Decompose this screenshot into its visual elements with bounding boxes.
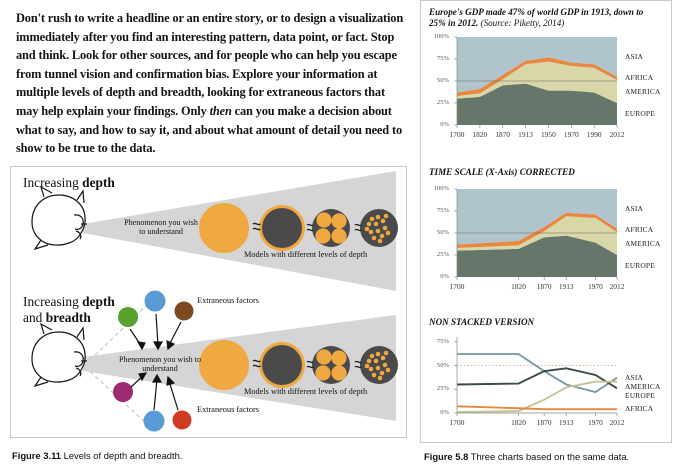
series-label-europe: EUROPE — [625, 109, 655, 118]
y-tick-label: 25% — [423, 99, 449, 106]
model-circle-level-3 — [312, 346, 350, 384]
extraneous-dot-magenta — [113, 382, 133, 402]
model-circle-level-1 — [199, 203, 249, 253]
chart-1-title-source: (Source: Piketty, 2014) — [481, 18, 565, 28]
chart-2-title-text: TIME SCALE (X-Axis) CORRECTED — [429, 167, 575, 177]
x-tick-label: 2012 — [600, 130, 634, 139]
phenomenon-label-top: Phenomenon you wish to understand — [121, 218, 201, 237]
extraneous-dot-lightblue-bottom — [144, 411, 165, 432]
right-column: Europe's GDP made 47% of world GDP in 19… — [420, 0, 680, 471]
chart-block-3: NON STACKED VERSION 0%25%50%75%170018201… — [421, 313, 671, 441]
y-tick-label: 0% — [423, 409, 449, 416]
figure-5-8-caption-label: Figure 5.8 — [424, 451, 468, 462]
y-tick-label: 50% — [423, 362, 449, 369]
extraneous-factors-label-top: Extraneous factors — [197, 296, 259, 305]
y-tick-label: 0% — [423, 121, 449, 128]
series-label-america: AMERICA — [625, 382, 660, 391]
y-tick-label: 50% — [423, 77, 449, 84]
figure-3-11-caption-text: Levels of depth and breadth. — [64, 450, 183, 461]
models-label-bottom: Models with different levels of depth — [244, 387, 404, 396]
extraneous-dot-red — [173, 411, 192, 430]
paragraph-text-part1: Don't rush to write a headline or an ent… — [16, 11, 403, 118]
y-tick-label: 75% — [423, 55, 449, 62]
models-label-top: Models with different levels of depth — [244, 250, 404, 259]
line-europe — [457, 368, 617, 388]
chart-1-title: Europe's GDP made 47% of world GDP in 19… — [429, 7, 661, 29]
extraneous-factors-label-bottom: Extraneous factors — [197, 405, 259, 414]
series-label-africa: AFRICA — [625, 404, 653, 413]
model-circle-level-4 — [360, 209, 398, 247]
y-tick-label: 100% — [423, 185, 449, 192]
series-label-africa: AFRICA — [625, 225, 653, 234]
x-tick-label: 1700 — [440, 282, 474, 291]
y-tick-label: 50% — [423, 229, 449, 236]
x-tick-label: 2012 — [600, 282, 634, 291]
head-silhouette-icon — [32, 324, 87, 386]
series-label-america: AMERICA — [625, 239, 660, 248]
chart-block-2: TIME SCALE (X-Axis) CORRECTED 0%25%50%75… — [421, 163, 671, 313]
left-column: Don't rush to write a headline or an ent… — [0, 0, 416, 471]
model-circle-level-4 — [360, 346, 398, 384]
line-africa — [457, 406, 617, 409]
line-asia — [457, 354, 617, 392]
y-tick-label: 75% — [423, 338, 449, 345]
series-label-asia: ASIA — [625, 373, 643, 382]
y-tick-label: 0% — [423, 273, 449, 280]
extraneous-dot-lightblue-top — [145, 291, 166, 312]
series-label-asia: ASIA — [625, 204, 643, 213]
y-tick-label: 100% — [423, 33, 449, 40]
panel-top-graphic — [11, 167, 407, 295]
extraneous-dot-brown — [175, 302, 194, 321]
body-paragraph: Don't rush to write a headline or an ent… — [16, 9, 406, 158]
y-tick-label: 75% — [423, 207, 449, 214]
y-tick-label: 25% — [423, 385, 449, 392]
series-label-europe: EUROPE — [625, 391, 655, 400]
phenomenon-label-bottom: Phenomenon you wish to understand — [118, 355, 202, 374]
model-circle-level-3 — [312, 209, 350, 247]
panel-bottom-graphic — [11, 287, 407, 438]
x-tick-label: 2012 — [600, 418, 634, 427]
head-silhouette-icon — [32, 187, 87, 249]
series-label-europe: EUROPE — [625, 261, 655, 270]
panel-increasing-depth: Increasing depth — [11, 167, 407, 295]
model-circle-level-1 — [199, 340, 249, 390]
figure-3-11-frame: Increasing depth — [10, 166, 407, 438]
y-tick-label: 25% — [423, 251, 449, 258]
panel-increasing-depth-breadth: Increasing depthand breadth — [11, 287, 407, 438]
figure-3-11-caption: Figure 3.11 Levels of depth and breadth. — [12, 450, 182, 461]
figure-5-8-frame: Europe's GDP made 47% of world GDP in 19… — [420, 0, 672, 443]
chart-block-1: Europe's GDP made 47% of world GDP in 19… — [421, 3, 671, 163]
series-label-america: AMERICA — [625, 87, 660, 96]
model-circle-level-2 — [259, 342, 305, 388]
chart-3-title-text: NON STACKED VERSION — [429, 317, 534, 327]
figure-3-11-caption-label: Figure 3.11 — [12, 450, 61, 461]
paragraph-emphasis: then — [210, 104, 232, 118]
extraneous-dot-green — [118, 307, 138, 327]
series-label-asia: ASIA — [625, 52, 643, 61]
series-label-africa: AFRICA — [625, 73, 653, 82]
document-page: Don't rush to write a headline or an ent… — [0, 0, 680, 471]
chart-3-title: NON STACKED VERSION — [429, 317, 661, 328]
figure-5-8-caption-text: Three charts based on the same data. — [471, 451, 629, 462]
model-circle-level-2 — [259, 205, 305, 251]
x-tick-label: 1700 — [440, 418, 474, 427]
figure-5-8-caption: Figure 5.8 Three charts based on the sam… — [424, 451, 629, 462]
chart-2-title: TIME SCALE (X-Axis) CORRECTED — [429, 167, 661, 178]
